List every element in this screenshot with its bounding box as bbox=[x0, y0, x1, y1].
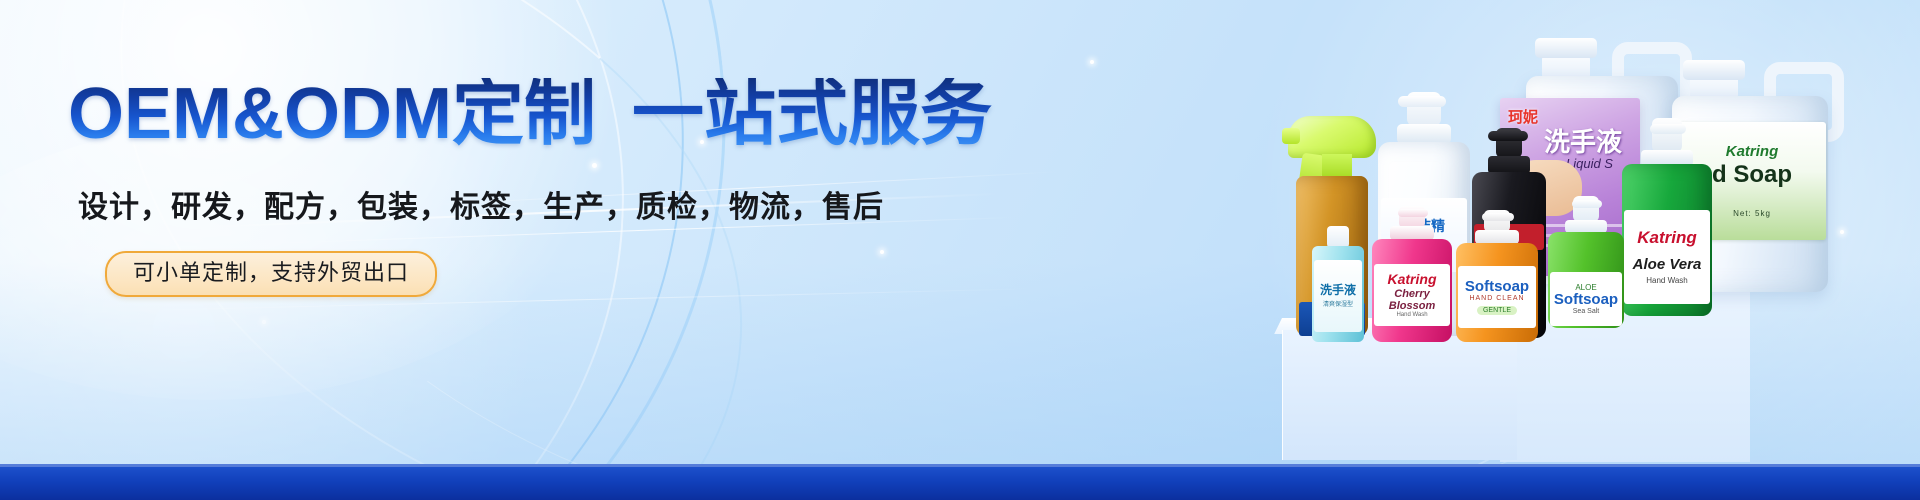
softsoap-orange-collar bbox=[1475, 230, 1519, 244]
cherry-brand: Katring bbox=[1388, 272, 1437, 287]
product-katring-aloe: Katring Aloe Vera Hand Wash bbox=[1620, 118, 1714, 318]
bottom-accent-bar bbox=[0, 464, 1920, 500]
white-pump-nozzle bbox=[1398, 96, 1446, 107]
product-scene: Katring d Soap Net: 5kg 珂妮 洗手液 Liquid S … bbox=[960, 0, 1920, 500]
spray-trigger-head bbox=[1288, 116, 1376, 158]
aloe-variant: Aloe Vera bbox=[1633, 257, 1702, 273]
product-hand-wash-blue: 洗手液 清爽保湿型 bbox=[1312, 226, 1364, 342]
headline-sub: 一站式服务 bbox=[632, 74, 992, 154]
bottom-bar-highlight bbox=[0, 464, 1920, 467]
softsoap-green-label: ALOE Softsoap Sea Salt bbox=[1550, 272, 1622, 326]
aloe-label: Katring Aloe Vera Hand Wash bbox=[1624, 210, 1710, 304]
softsoap-orange-nozzle bbox=[1482, 213, 1514, 221]
cherry-nozzle bbox=[1398, 209, 1428, 217]
pedestal-front bbox=[1282, 330, 1517, 460]
product-cherry-blossom: Katring Cherry Blossom Hand Wash bbox=[1372, 206, 1452, 342]
product-softsoap-orange: Softsoap HAND CLEAN GENTLE bbox=[1456, 210, 1538, 342]
jerrycan-right-weight: Net: 5kg bbox=[1733, 209, 1771, 218]
softsoap-orange-brand: Softsoap bbox=[1465, 279, 1529, 295]
cherry-type: Hand Wash bbox=[1396, 312, 1427, 318]
carton-brand: 珂妮 bbox=[1508, 106, 1538, 127]
cherry-collar bbox=[1390, 226, 1434, 240]
jerrycan-right-title: d Soap bbox=[1712, 162, 1792, 187]
spray-nozzle bbox=[1282, 128, 1300, 144]
aloe-type: Hand Wash bbox=[1646, 276, 1688, 285]
blue-bottle-desc: 清爽保湿型 bbox=[1323, 299, 1353, 308]
white-pump-collar bbox=[1397, 124, 1451, 144]
softsoap-orange-note: GENTLE bbox=[1477, 306, 1517, 315]
softsoap-green-brand: Softsoap bbox=[1554, 292, 1618, 308]
softsoap-green-note: Sea Salt bbox=[1573, 308, 1599, 315]
product-softsoap-green: ALOE Softsoap Sea Salt bbox=[1548, 196, 1624, 328]
blue-bottle-title: 洗手液 bbox=[1320, 284, 1356, 297]
jerrycan-right-brand: Katring bbox=[1726, 144, 1779, 160]
softsoap-orange-label: Softsoap HAND CLEAN GENTLE bbox=[1458, 266, 1536, 328]
blue-bottle-cap bbox=[1327, 226, 1349, 248]
aloe-brand: Katring bbox=[1637, 229, 1697, 247]
blue-bottle-label: 洗手液 清爽保湿型 bbox=[1314, 260, 1362, 332]
promo-banner: OEM&ODM定制一站式服务 设计，研发，配方，包装，标签，生产，质检，物流，售… bbox=[0, 0, 1920, 500]
softsoap-green-nozzle bbox=[1572, 200, 1602, 208]
services-list: 设计，研发，配方，包装，标签，生产，质检，物流，售后 bbox=[78, 182, 884, 226]
jerrycan-left-cap bbox=[1535, 38, 1597, 58]
cherry-label: Katring Cherry Blossom Hand Wash bbox=[1374, 264, 1450, 326]
custom-order-badge[interactable]: 可小单定制，支持外贸出口 bbox=[105, 251, 437, 297]
aloe-pump-nozzle bbox=[1650, 124, 1686, 134]
cherry-variant: Cherry Blossom bbox=[1374, 289, 1450, 312]
text-content: OEM&ODM定制一站式服务 设计，研发，配方，包装，标签，生产，质检，物流，售… bbox=[0, 0, 1000, 500]
jerrycan-right-cap bbox=[1683, 60, 1745, 80]
page-title: OEM&ODM定制一站式服务 bbox=[68, 78, 992, 150]
carton-title: 洗手液 bbox=[1544, 122, 1622, 159]
black-pump-nozzle bbox=[1488, 131, 1528, 141]
softsoap-orange-desc: HAND CLEAN bbox=[1469, 295, 1524, 302]
headline-main: OEM&ODM定制 bbox=[68, 74, 596, 154]
